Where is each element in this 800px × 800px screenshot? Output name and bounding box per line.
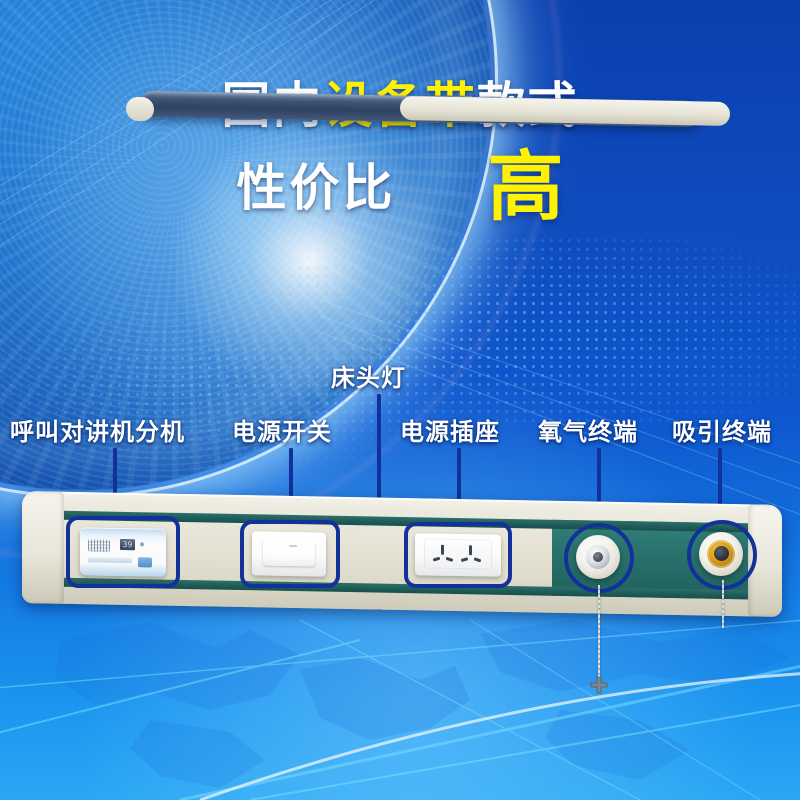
callout-label-oxygen: 氧气终端	[538, 412, 638, 447]
headline-value-text: 性价比	[237, 151, 396, 225]
panel-end-cap-left	[22, 491, 64, 604]
highlight-circle-oxygen	[564, 523, 634, 593]
callout-label-bed-lamp: 床头灯	[331, 358, 406, 393]
highlight-box-nurse-call	[66, 516, 180, 588]
dot-matrix-map-right	[250, 236, 800, 426]
lamp-end-cap-left	[126, 97, 154, 122]
callout-label-power-socket: 电源插座	[400, 412, 500, 447]
banner-stage: 国内设备带款式 性价比高 呼叫对讲机分机 电源开关 床头灯 电源插座 氧气终端 …	[0, 0, 800, 800]
suction-pull-cord[interactable]	[722, 580, 724, 628]
highlight-box-power-socket	[404, 522, 512, 588]
oxygen-pull-cord[interactable]	[598, 585, 600, 680]
headline-emphasis-char: 高	[488, 150, 564, 226]
callout-label-power-switch: 电源开关	[232, 412, 332, 447]
callout-label-nurse-call: 呼叫对讲机分机	[10, 412, 185, 447]
headline-line-2: 性价比高	[0, 150, 800, 226]
world-map-silhouette	[0, 600, 800, 800]
callout-label-suction: 吸引终端	[672, 412, 772, 447]
pull-cord-handle-icon[interactable]	[589, 676, 609, 696]
highlight-box-power-switch	[240, 520, 340, 588]
